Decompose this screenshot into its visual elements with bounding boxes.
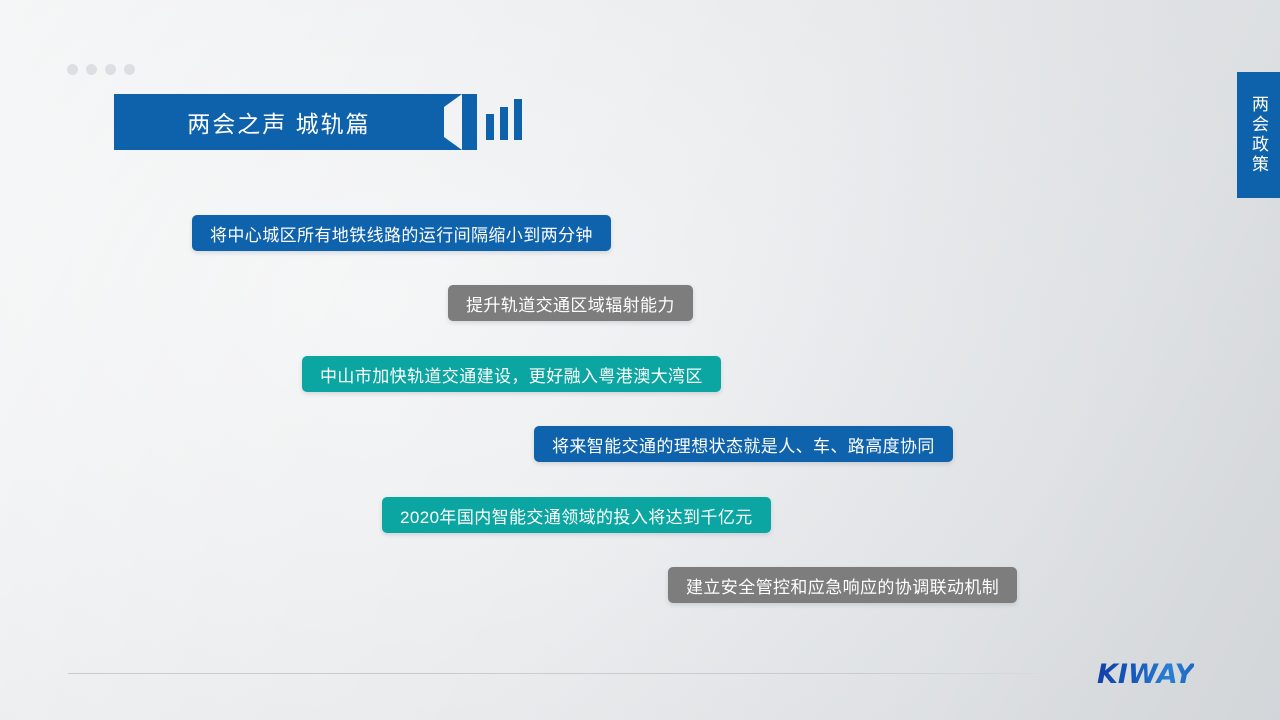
- side-tab-label: 两会政策: [1250, 95, 1267, 175]
- dot-2: [86, 64, 97, 75]
- page-title: 两会之声 城轨篇: [187, 105, 370, 139]
- dot-3: [105, 64, 116, 75]
- dot-1: [67, 64, 78, 75]
- statement-text-5: 2020年国内智能交通领域的投入将达到千亿元: [400, 503, 753, 528]
- statement-text-3: 中山市加快轨道交通建设，更好融入粤港澳大湾区: [320, 362, 703, 387]
- statement-text-1: 将中心城区所有地铁线路的运行间隔缩小到两分钟: [210, 221, 593, 246]
- footer-divider: [68, 673, 1080, 674]
- kiway-logo: KIWAY: [1097, 659, 1194, 690]
- statement-bubble-4[interactable]: 将来智能交通的理想状态就是人、车、路高度协同: [534, 426, 953, 462]
- decorative-dots: [67, 64, 135, 75]
- statement-bubble-1[interactable]: 将中心城区所有地铁线路的运行间隔缩小到两分钟: [192, 215, 611, 251]
- statement-bubble-6[interactable]: 建立安全管控和应急响应的协调联动机制: [668, 567, 1017, 603]
- sound-bar-1: [486, 114, 494, 140]
- statement-bubble-3[interactable]: 中山市加快轨道交通建设，更好融入粤港澳大湾区: [302, 356, 721, 392]
- title-banner: 两会之声 城轨篇: [114, 94, 522, 150]
- dot-4: [124, 64, 135, 75]
- sound-bar-2: [500, 107, 508, 140]
- side-tab-policy[interactable]: 两会政策: [1237, 72, 1280, 198]
- title-bar: 两会之声 城轨篇: [114, 94, 444, 150]
- sound-wave-bars-icon: [486, 94, 522, 150]
- speaker-cone-icon: [444, 94, 477, 150]
- statement-bubble-2[interactable]: 提升轨道交通区域辐射能力: [448, 285, 693, 321]
- statement-bubble-5[interactable]: 2020年国内智能交通领域的投入将达到千亿元: [382, 497, 771, 533]
- slide-canvas: 两会之声 城轨篇 两会政策 将中心城区所有地铁线路的运行间隔缩小到两分钟 提升轨…: [0, 0, 1280, 720]
- statement-text-6: 建立安全管控和应急响应的协调联动机制: [686, 573, 999, 598]
- statement-text-4: 将来智能交通的理想状态就是人、车、路高度协同: [552, 432, 935, 457]
- sound-bar-3: [514, 99, 522, 140]
- statement-text-2: 提升轨道交通区域辐射能力: [466, 291, 675, 316]
